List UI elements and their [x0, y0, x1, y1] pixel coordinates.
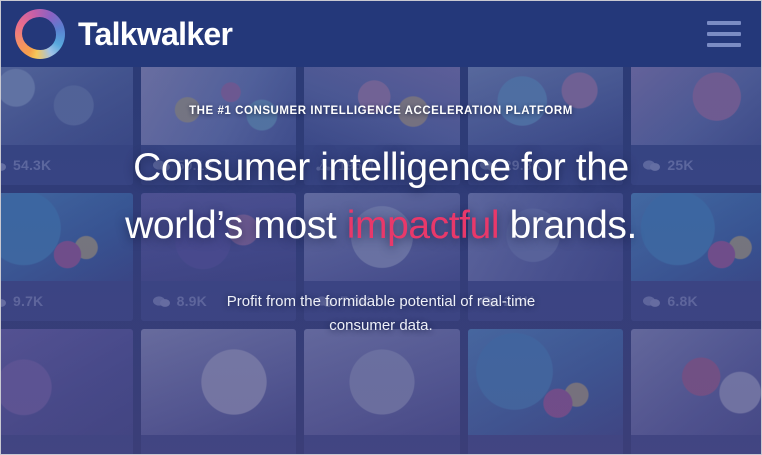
hero-color-overlay	[1, 1, 761, 454]
menu-line	[707, 43, 741, 47]
site-header: Talkwalker	[1, 1, 762, 67]
menu-line	[707, 21, 741, 25]
hamburger-menu-icon[interactable]	[707, 21, 741, 47]
menu-line	[707, 32, 741, 36]
talkwalker-ring-logo-icon	[15, 9, 65, 59]
landing-page: 54.3K 50.1K 196M 29.8K	[0, 0, 762, 455]
brand-logo[interactable]: Talkwalker	[15, 9, 232, 59]
brand-name: Talkwalker	[78, 18, 232, 50]
